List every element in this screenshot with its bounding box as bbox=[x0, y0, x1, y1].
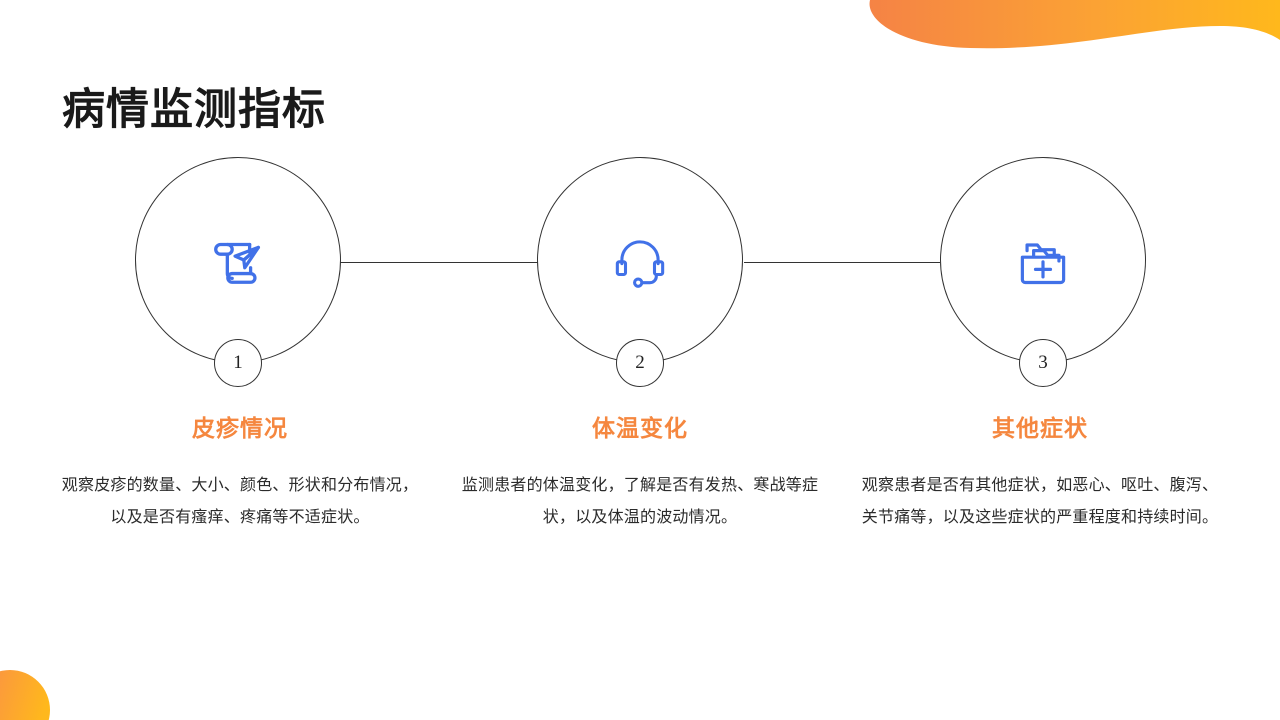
column-1: 皮疹情况 观察皮疹的数量、大小、颜色、形状和分布情况，以及是否有瘙痒、疼痛等不适… bbox=[40, 415, 440, 534]
folder-plus-icon bbox=[1011, 228, 1075, 292]
top-right-wave-decoration bbox=[820, 0, 1280, 70]
connector-line-1-2 bbox=[340, 262, 540, 263]
connector-line-2-3 bbox=[744, 262, 940, 263]
column-body-text: 监测患者的体温变化，了解是否有发热、寒战等症状，以及体温的波动情况。 bbox=[458, 470, 822, 534]
scroll-paper-plane-icon bbox=[206, 228, 270, 292]
bottom-left-circle-decoration bbox=[0, 640, 80, 720]
column-body-text: 观察患者是否有其他症状，如恶心、呕吐、腹泻、关节痛等，以及这些症状的严重程度和持… bbox=[858, 470, 1222, 534]
diagram-node-1[interactable]: 1 bbox=[135, 157, 341, 363]
column-body-text: 观察皮疹的数量、大小、颜色、形状和分布情况，以及是否有瘙痒、疼痛等不适症状。 bbox=[58, 470, 422, 534]
column-2: 体温变化 监测患者的体温变化，了解是否有发热、寒战等症状，以及体温的波动情况。 bbox=[440, 415, 840, 534]
node-number-badge: 3 bbox=[1019, 339, 1067, 387]
node-number-badge: 1 bbox=[214, 339, 262, 387]
description-columns: 皮疹情况 观察皮疹的数量、大小、颜色、形状和分布情况，以及是否有瘙痒、疼痛等不适… bbox=[0, 415, 1280, 534]
slide-canvas: 病情监测指标 bbox=[0, 0, 1280, 720]
column-heading: 其他症状 bbox=[858, 415, 1222, 443]
diagram-node-3[interactable]: 3 bbox=[940, 157, 1146, 363]
column-heading: 体温变化 bbox=[458, 415, 822, 443]
process-diagram: 1 2 bbox=[0, 145, 1280, 395]
diagram-node-2[interactable]: 2 bbox=[537, 157, 743, 363]
page-title: 病情监测指标 bbox=[62, 87, 326, 134]
node-number-badge: 2 bbox=[616, 339, 664, 387]
column-3: 其他症状 观察患者是否有其他症状，如恶心、呕吐、腹泻、关节痛等，以及这些症状的严… bbox=[840, 415, 1240, 534]
column-heading: 皮疹情况 bbox=[58, 415, 422, 443]
headset-icon bbox=[608, 228, 672, 292]
